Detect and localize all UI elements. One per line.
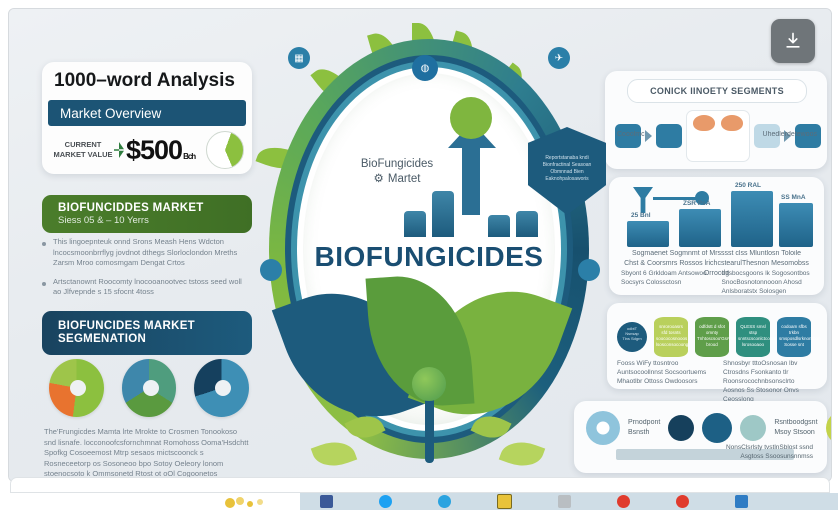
cylinder-captions: Fooss WiFy ttosntroo Auntsocoollnnst Soc… — [617, 359, 817, 404]
taskbar-icon-facebook[interactable] — [320, 495, 333, 508]
trend-arrows-icon — [114, 142, 124, 158]
cylinder-panel: odbtT Nsnsap Tlns Sdgrn snrorooasrs sfd … — [607, 303, 827, 389]
taskbar-icon-window-blue[interactable] — [735, 495, 748, 508]
globe-leaf-icon — [412, 367, 446, 401]
emblem-main-title: BIOFUNGICIDES — [303, 241, 555, 273]
gear-icon — [826, 411, 832, 445]
bar-caption-line-1: Sogmaenet Sogmnmt of Mrsssst clss Mluntl… — [621, 249, 812, 259]
segment-donut-1 — [49, 359, 104, 417]
cylinder: QLESS smsl stsp snntscsconlctcooat lsros… — [736, 317, 770, 357]
bar-label: ZSR PsA — [683, 200, 710, 207]
industry-segments-panel: CONICK IINOETY SEGMENTS Cooolmc Uhedlerd… — [605, 71, 827, 169]
summary-left-label: Prnodpont Bsnsth — [628, 418, 660, 438]
download-button[interactable] — [771, 19, 815, 63]
people-dot-icon — [740, 415, 766, 441]
kpi-label: CURRENT MARKET VALUE — [52, 140, 114, 160]
decor-leaf-icon — [499, 435, 545, 473]
segments-right-caption: Uhedlerdetewoos — [763, 131, 817, 138]
cylinder: snrorooasrs sfd tosnts soococosnooos lso… — [654, 317, 688, 357]
legend-entry: Infsbocsgoons lk Sogosontbos SnocBosnoto… — [722, 269, 813, 296]
infographic-canvas: ▦ ✈ ◍ Reportstanaba kndi Bionfractinal S… — [9, 9, 831, 481]
cylinder: odfdstt d sfot omnty Tnhtoscsoo'Gsrvmn b… — [695, 317, 729, 357]
cylinder-label: QLESS smsl stsp snntscsconlctcooat lsros… — [738, 324, 768, 348]
people-dot-icon — [668, 415, 694, 441]
segments-pill-label: CONICK IINOETY SEGMENTS — [650, 86, 784, 96]
screenshot-viewport: ▦ ✈ ◍ Reportstanaba kndi Bionfractinal S… — [0, 0, 838, 510]
taskbar-icon-notepad[interactable] — [497, 494, 512, 509]
chevron-right-icon — [645, 130, 652, 142]
people-dot-icon — [702, 413, 732, 443]
summary-note: NonsClsrlsty tvstlnSblost ssnd Asgtoss S… — [713, 443, 813, 461]
green-band-title: BIOFUNCIDDES MARKET — [58, 202, 252, 214]
overview-bullets: This lingoepnteuk onnd Srons Meash Hens … — [42, 237, 252, 306]
taskbar-thumbnail[interactable] — [196, 493, 300, 510]
bar-label: SS MnA — [781, 194, 806, 201]
market-overview-card: 1000–word Analysis Market Overview CURRE… — [42, 62, 252, 174]
download-icon — [783, 31, 803, 51]
bar — [679, 209, 721, 247]
market-overview-header: Market Overview — [48, 100, 246, 126]
kpi-value-group: $500 Bch — [126, 135, 195, 166]
shield-text: Reportstanaba kndi Bionfractinal Seasoan… — [534, 155, 600, 183]
segment-midbox — [686, 110, 750, 162]
bar — [627, 221, 669, 247]
analysis-title: 1000–word Analysis — [54, 70, 235, 92]
cylinder-label: odfdstt d sfot omnty Tnhtoscsoo'Gsrvmn b… — [697, 324, 727, 348]
navy-band-title-1: BIOFUNCIDES MARKET — [58, 320, 252, 333]
navy-band-title-2: SEGMENATION — [58, 333, 252, 346]
green-band: BIOFUNCIDDES MARKET Siess 05 & – 10 Yerr… — [42, 195, 252, 233]
kpi-unit: Bch — [183, 152, 195, 161]
ring-node-left-icon — [260, 259, 282, 281]
kpi-row: CURRENT MARKET VALUE $500 Bch — [52, 132, 244, 168]
bar-chart: 25 Bnl ZSR PsA 250 RAL SS MnA — [621, 185, 812, 247]
calendar-node-icon: ▦ — [288, 47, 310, 69]
globe-node-icon: ◍ — [412, 55, 438, 81]
gear-icon: ⚙ — [374, 172, 384, 187]
cylinder-label: codoam sfbs trkbn smsposdlsrknonrbon Sos… — [779, 324, 809, 348]
emblem-bar — [488, 215, 510, 237]
cylinder-left-text: Fooss WiFy ttosntroo Auntsocoollnnst Soc… — [617, 359, 711, 404]
emblem-bar — [516, 211, 538, 237]
bar — [779, 203, 813, 247]
center-emblem: ▦ ✈ ◍ Reportstanaba kndi Bionfractinal S… — [252, 17, 607, 479]
segment-chip-icon — [656, 124, 682, 148]
cylinder-right-text: Shnosbyr tttoOsnosan lbv Ctrosdns Fsonka… — [723, 359, 817, 404]
navy-band: BIOFUNCIDES MARKET SEGMENATION — [42, 311, 252, 355]
cylinder: codoam sfbs trkbn smsposdlsrknonrbon Sos… — [777, 317, 811, 357]
ring-node-right-icon — [578, 259, 600, 281]
emblem-brand-line-1: BioFungicides — [342, 157, 452, 172]
blob-icon — [693, 115, 715, 131]
taskbar-icon-twitter[interactable] — [379, 495, 392, 508]
list-item: Artsctanownt Roocomty lnocooanootvec tst… — [42, 277, 252, 298]
emblem-bar — [404, 211, 426, 237]
summary-right-label: Rsntboodgsnt Msoy Stsoon — [774, 418, 817, 438]
taskbar-icon-app-red-2[interactable] — [676, 495, 689, 508]
segments-left-caption: Cooolmc — [617, 131, 645, 138]
segmentation-footer: The'Frungicdes Mamta lrte Mrokte to Cros… — [44, 427, 249, 482]
taskbar-left-area — [0, 493, 196, 510]
bullet-dot-icon — [42, 242, 46, 246]
bar-label: 25 Bnl — [631, 212, 651, 219]
cylinder-badge: odbtT Nsnsap Tlns Sdgrn — [617, 322, 647, 352]
segmentation-footer-text: The'Frungicdes Mamta lrte Mrokte to Cros… — [44, 427, 249, 482]
kpi-value: $500 — [126, 135, 182, 166]
growth-arrow-stem — [462, 145, 480, 215]
bullet-text: Artsctanownt Roocomty lnocooanootvec tst… — [53, 277, 252, 298]
green-band-subtitle: Siess 05 & – 10 Yerrs — [58, 215, 252, 226]
market-bar-chart-panel: 25 Bnl ZSR PsA 250 RAL SS MnA Sogmaenet … — [609, 177, 824, 295]
taskbar-icon-explorer[interactable] — [558, 495, 571, 508]
emblem-brand-line-2: Martet — [388, 172, 421, 187]
bar-chart-legend: Sbyont 6 Grkldoam Antsowoo Socsyrs Colos… — [621, 269, 812, 296]
blob-icon — [721, 115, 743, 131]
emblem-bar — [432, 191, 454, 237]
market-overview-header-label: Market Overview — [60, 106, 161, 121]
segmentation-donut-group — [49, 359, 249, 417]
page-shell — [10, 477, 830, 493]
pie-chart-icon — [206, 131, 244, 169]
cylinder-row: odbtT Nsnsap Tlns Sdgrn snrorooasrs sfd … — [617, 311, 817, 357]
bar — [731, 191, 773, 247]
leaf-badge-icon — [450, 97, 492, 139]
segment-donut-2 — [122, 359, 177, 417]
taskbar[interactable] — [0, 493, 838, 510]
segments-pill: CONICK IINOETY SEGMENTS — [627, 79, 807, 103]
taskbar-icon-app-red[interactable] — [617, 495, 630, 508]
bottom-summary-panel: Prnodpont Bsnsth Rsntboodgsnt Msoy Stsoo… — [574, 401, 827, 473]
cylinder-label: snrorooasrs sfd tosnts soococosnooos lso… — [656, 324, 686, 348]
segment-donut-3 — [194, 359, 249, 417]
taskbar-icon-telegram[interactable] — [438, 495, 451, 508]
image-viewer-frame: ▦ ✈ ◍ Reportstanaba kndi Bionfractinal S… — [8, 8, 832, 482]
legend-entry: Sbyont 6 Grkldoam Antsowoo Socsyrs Colos… — [621, 269, 712, 296]
summary-row: Prnodpont Bsnsth Rsntboodgsnt Msoy Stsoo… — [586, 409, 815, 447]
bar-label: 250 RAL — [735, 182, 761, 189]
bullet-dot-icon — [42, 282, 46, 286]
decor-leaf-icon — [311, 435, 357, 473]
funnel-icon — [633, 187, 653, 213]
bullet-text: This lingoepnteuk onnd Srons Meash Hens … — [53, 237, 252, 269]
cylinder-badge-label: odbtT Nsnsap Tlns Sdgrn — [621, 326, 643, 348]
list-item: This lingoepnteuk onnd Srons Meash Hens … — [42, 237, 252, 269]
emblem-brand: BioFungicides ⚙ Martet — [342, 157, 452, 187]
taskbar-right-area — [750, 493, 838, 510]
plant-node-icon: ✈ — [548, 47, 570, 69]
taskbar-icon-group[interactable] — [320, 493, 748, 510]
flower-thumbnail-icon — [220, 495, 276, 509]
